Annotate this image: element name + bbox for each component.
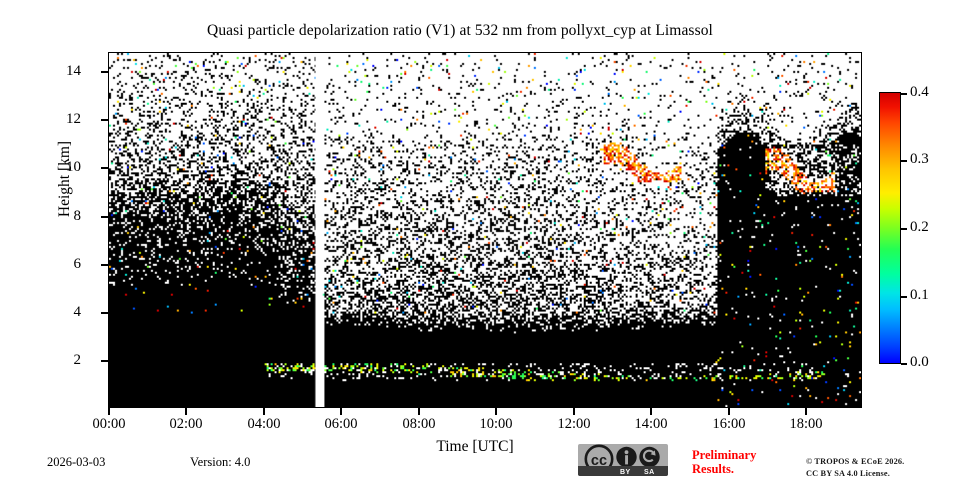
cc-sa-label: SA (644, 469, 655, 476)
creative-commons-badge[interactable]: cc BY SA (578, 444, 668, 476)
y-tick-label: 14 (66, 64, 81, 79)
x-tick-mark (185, 408, 187, 415)
figure-date: 2026-03-03 (47, 455, 105, 470)
x-tick-mark (340, 408, 342, 415)
x-tick-mark (108, 408, 110, 415)
y-tick-mark (101, 360, 108, 362)
x-tick-label: 12:00 (544, 416, 604, 433)
figure-version: Version: 4.0 (190, 455, 250, 470)
page-title: Quasi particle depolarization ratio (V1)… (0, 22, 920, 40)
colorbar-tick-label: 0.4 (910, 85, 929, 100)
x-tick-label: 00:00 (79, 416, 139, 433)
x-tick-label: 10:00 (466, 416, 526, 433)
copyright-note: © TROPOS & ECoE 2026. CC BY SA 4.0 Licen… (806, 456, 956, 480)
x-tick-label: 08:00 (389, 416, 449, 433)
colorbar (879, 92, 901, 364)
y-tick-label: 8 (74, 209, 82, 224)
x-tick-mark (263, 408, 265, 415)
colorbar-tick-label: 0.0 (910, 355, 929, 370)
y-tick-mark (101, 71, 108, 73)
x-axis-label: Time [UTC] (0, 438, 960, 456)
x-tick-mark (495, 408, 497, 415)
colorbar-tick-mark (901, 93, 907, 95)
colorbar-tick-mark (901, 228, 907, 230)
depolarization-heatmap (109, 53, 861, 407)
y-tick-label: 6 (74, 257, 82, 272)
colorbar-tick-label: 0.3 (910, 152, 929, 167)
colorbar-tick-label: 0.2 (910, 220, 929, 235)
y-tick-mark (101, 264, 108, 266)
x-tick-mark (573, 408, 575, 415)
y-tick-mark (101, 312, 108, 314)
x-tick-label: 18:00 (776, 416, 836, 433)
y-tick-label: 4 (74, 305, 82, 320)
y-axis-label: Height [km] (56, 79, 74, 279)
preliminary-results-note: Preliminary Results. (692, 448, 802, 476)
colorbar-tick-mark (901, 296, 907, 298)
x-tick-mark (650, 408, 652, 415)
y-tick-mark (101, 119, 108, 121)
x-tick-label: 02:00 (156, 416, 216, 433)
x-tick-label: 14:00 (621, 416, 681, 433)
cc-by-label: BY (620, 469, 631, 476)
preliminary-line-2: Results. (692, 462, 802, 476)
copyright-line-1: © TROPOS & ECoE 2026. (806, 456, 956, 468)
x-tick-label: 16:00 (699, 416, 759, 433)
quicklook-figure: Quasi particle depolarization ratio (V1)… (0, 0, 960, 480)
colorbar-tick-mark (901, 363, 907, 365)
y-tick-label: 2 (74, 353, 82, 368)
preliminary-line-1: Preliminary (692, 448, 802, 462)
x-tick-mark (805, 408, 807, 415)
plot-area (108, 52, 862, 408)
colorbar-tick-mark (901, 160, 907, 162)
y-tick-mark (101, 167, 108, 169)
colorbar-tick-label: 0.1 (910, 288, 929, 303)
x-tick-label: 04:00 (234, 416, 294, 433)
y-tick-mark (101, 216, 108, 218)
copyright-line-2: CC BY SA 4.0 License. (806, 468, 956, 480)
x-tick-mark (418, 408, 420, 415)
x-tick-label: 06:00 (311, 416, 371, 433)
x-axis-label-text: Time [UTC] (436, 438, 513, 455)
x-tick-mark (728, 408, 730, 415)
